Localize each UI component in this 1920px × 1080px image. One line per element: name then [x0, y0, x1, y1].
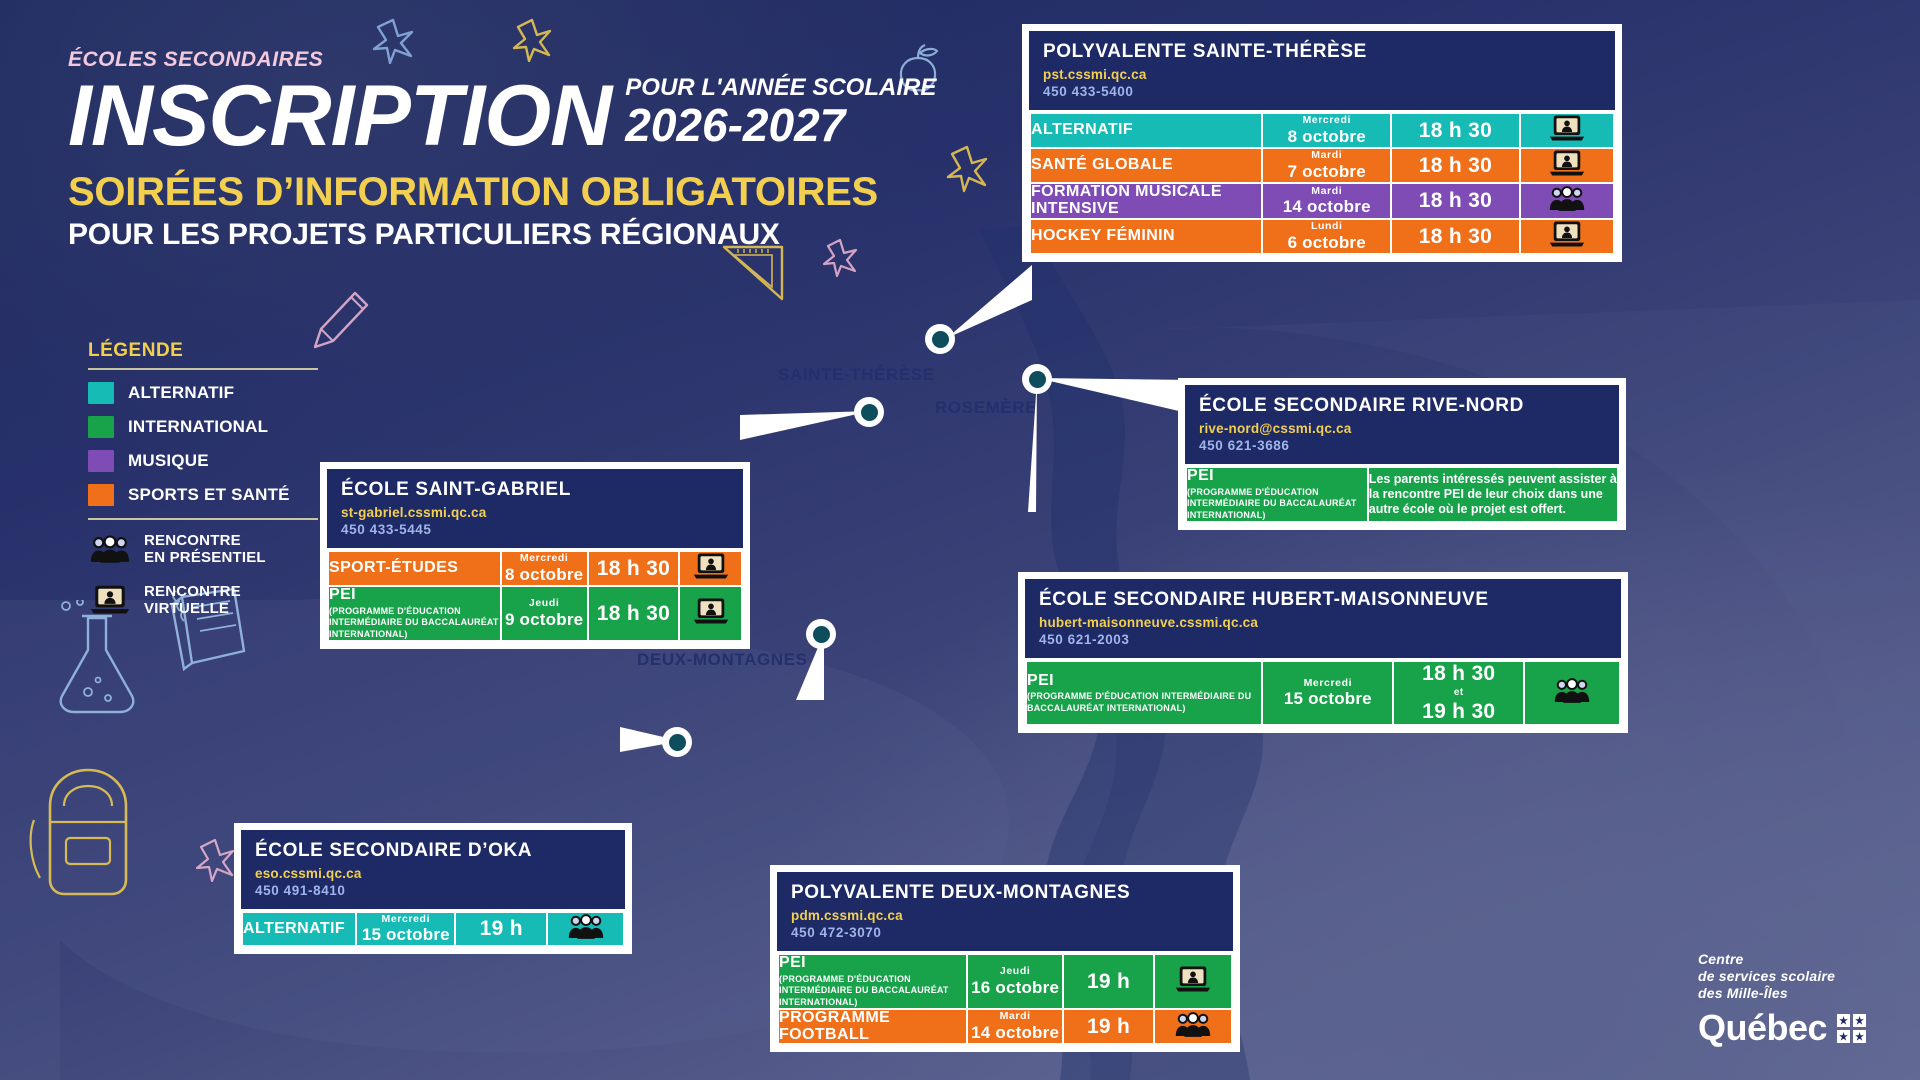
school-website[interactable]: hubert-maisonneuve.cssmi.qc.ca [1039, 615, 1607, 630]
people-group-icon [90, 534, 130, 564]
date-cell: Mercredi 8 octobre [502, 552, 587, 585]
cssmi-name: Centre de services scolaire des Mille-Îl… [1698, 951, 1866, 1002]
program-name: FORMATION MUSICALE INTENSIVE [1031, 184, 1261, 218]
school-name: ÉCOLE SECONDAIRE D’OKA [255, 840, 611, 861]
program-cell: PEI(PROGRAMME D'ÉDUCATION INTERMÉDIAIRE … [329, 587, 500, 640]
time-cell: 19 h [1064, 955, 1153, 1008]
program-cell: PEI(PROGRAMME D'ÉDUCATION INTERMÉDIAIRE … [779, 955, 966, 1008]
program-subtitle: (PROGRAMME D'ÉDUCATION INTERMÉDIAIRE DU … [1187, 487, 1367, 521]
legend-category-list: ALTERNATIF INTERNATIONAL MUSIQUE SPORTS … [88, 382, 318, 506]
program-cell: PEI(PROGRAMME D'ÉDUCATION INTERMÉDIAIRE … [1027, 662, 1261, 724]
legend-meeting-label: RENCONTRE EN PRÉSENTIEL [144, 532, 266, 567]
page-title: INSCRIPTION [68, 77, 611, 156]
laptop-person-icon [1549, 220, 1585, 248]
meeting-type-cell [1521, 149, 1613, 182]
table-row: FORMATION MUSICALE INTENSIVE Mardi 14 oc… [1031, 184, 1613, 218]
card-header: ÉCOLE SECONDAIRE RIVE-NORD rive-nord@css… [1185, 385, 1619, 464]
city-label-rosem-re: ROSEMÈRE [935, 398, 1037, 418]
program-cell: HOCKEY FÉMININ [1031, 220, 1261, 253]
date-cell: Jeudi 16 octobre [968, 955, 1062, 1008]
time-primary: 18 h 30 [1419, 154, 1492, 177]
weekday: Mercredi [357, 914, 454, 926]
card-header: ÉCOLE SECONDAIRE HUBERT-MAISONNEUVE hube… [1025, 579, 1621, 658]
people-group-icon [1554, 677, 1590, 704]
table-row: HOCKEY FÉMININ Lundi 6 octobre 18 h 30 [1031, 220, 1613, 253]
meeting-type-cell [1155, 1010, 1231, 1044]
time-separator: et [1394, 686, 1523, 700]
date: 8 octobre [502, 565, 587, 585]
date: 9 octobre [502, 610, 587, 630]
meeting-type-cell [680, 552, 741, 585]
meeting-type-cell [1521, 184, 1613, 218]
date: 14 octobre [968, 1023, 1062, 1043]
cssmi-line1: Centre [1698, 951, 1866, 968]
schedule-table: PEI(PROGRAMME D'ÉDUCATION INTERMÉDIAIRE … [777, 953, 1233, 1045]
time-cell: 18 h 30 [589, 587, 678, 640]
program-cell: FORMATION MUSICALE INTENSIVE [1031, 184, 1261, 218]
card-header: ÉCOLE SECONDAIRE D’OKA eso.cssmi.qc.ca 4… [241, 830, 625, 909]
program-name: PEI [329, 587, 500, 604]
meeting-type-cell [1521, 114, 1613, 147]
weekday: Jeudi [502, 598, 587, 610]
card-header: POLYVALENTE SAINTE-THÉRÈSE pst.cssmi.qc.… [1029, 31, 1615, 110]
time-cell: 18 h 30 [1392, 220, 1519, 253]
date-cell: Mercredi 8 octobre [1263, 114, 1390, 147]
table-row: PROGRAMME FOOTBALL Mardi 14 octobre 19 h [779, 1010, 1231, 1044]
schedule-table: PEI(PROGRAMME D'ÉDUCATION INTERMÉDIAIRE … [1185, 466, 1619, 523]
cssmi-line3: des Mille-Îles [1698, 985, 1866, 1002]
map-pin-sainte-therese[interactable] [925, 324, 955, 354]
program-name: PROGRAMME FOOTBALL [779, 1010, 966, 1044]
program-name: PEI [1187, 468, 1367, 485]
school-year-block: POUR L'ANNÉE SCOLAIRE 2026-2027 [625, 76, 936, 156]
time-primary: 18 h 30 [1422, 662, 1495, 685]
schedule-table: PEI(PROGRAMME D'ÉDUCATION INTERMÉDIAIRE … [1025, 660, 1621, 726]
date-cell: Mercredi 15 octobre [357, 913, 454, 945]
school-name: POLYVALENTE SAINTE-THÉRÈSE [1043, 41, 1601, 62]
date: 7 octobre [1263, 162, 1390, 182]
time-primary: 18 h 30 [597, 557, 670, 580]
time-primary: 18 h 30 [1419, 119, 1492, 142]
date-cell: Mardi 14 octobre [968, 1010, 1062, 1044]
cssmi-line2: de services scolaire [1698, 968, 1866, 985]
date: 15 octobre [1263, 689, 1392, 709]
time-primary: 19 h [480, 917, 523, 940]
legend-item-label: ALTERNATIF [128, 383, 234, 403]
legend: LÉGENDE ALTERNATIF INTERNATIONAL MUSIQUE… [88, 340, 318, 633]
program-name: PEI [779, 955, 966, 972]
map-pin-saint-gabriel[interactable] [854, 397, 884, 427]
card-header: POLYVALENTE DEUX-MONTAGNES pdm.cssmi.qc.… [777, 872, 1233, 951]
legend-swatch-icon [88, 450, 114, 472]
backpack-doodle [20, 760, 150, 900]
city-label-deux-montagnes: DEUX-MONTAGNES [637, 650, 808, 670]
time-cell: 18 h 30et 19 h 30 [1394, 662, 1523, 724]
school-name: ÉCOLE SECONDAIRE HUBERT-MAISONNEUVE [1039, 589, 1607, 610]
school-name: ÉCOLE SECONDAIRE RIVE-NORD [1199, 395, 1605, 416]
time-primary: 18 h 30 [597, 602, 670, 625]
title-row: INSCRIPTION POUR L'ANNÉE SCOLAIRE 2026-2… [68, 76, 1068, 156]
school-card-oka[interactable]: ÉCOLE SECONDAIRE D’OKA eso.cssmi.qc.ca 4… [234, 823, 632, 954]
date: 14 octobre [1263, 197, 1390, 217]
header-subtitle-secondary: POUR LES PROJETS PARTICULIERS RÉGIONAUX [68, 220, 1068, 250]
program-name: HOCKEY FÉMININ [1031, 228, 1261, 245]
time-secondary: 19 h 30 [1422, 700, 1495, 723]
program-subtitle: (PROGRAMME D'ÉDUCATION INTERMÉDIAIRE DU … [779, 974, 966, 1008]
weekday: Mardi [1263, 150, 1390, 162]
weekday: Mardi [968, 1011, 1062, 1023]
program-cell: PEI(PROGRAMME D'ÉDUCATION INTERMÉDIAIRE … [1187, 468, 1367, 521]
program-cell: SPORT-ÉTUDES [329, 552, 500, 585]
school-phone[interactable]: 450 472-3070 [791, 925, 1219, 940]
weekday: Mercredi [1263, 115, 1390, 127]
weekday: Jeudi [968, 966, 1062, 978]
laptop-person-icon [1549, 149, 1585, 177]
laptop-person-icon [693, 597, 729, 625]
meeting-type-cell [1521, 220, 1613, 253]
table-row: SPORT-ÉTUDES Mercredi 8 octobre 18 h 30 [329, 552, 741, 585]
schedule-table: ALTERNATIF Mercredi 8 octobre 18 h 30 SA… [1029, 112, 1615, 255]
time-primary: 18 h 30 [1419, 225, 1492, 248]
legend-item-musique: MUSIQUE [88, 450, 318, 472]
legend-meeting-list: RENCONTRE EN PRÉSENTIEL RENCONTRE VIRTUE… [88, 532, 318, 617]
legend-item-label: SPORTS ET SANTÉ [128, 485, 290, 505]
school-name: ÉCOLE SAINT-GABRIEL [341, 479, 729, 500]
program-name: SPORT-ÉTUDES [329, 560, 500, 577]
school-phone[interactable]: 450 433-5445 [341, 522, 729, 537]
date: 15 octobre [357, 925, 454, 945]
weekday: Mercredi [502, 553, 587, 565]
ruler-triangle-doodle [716, 243, 788, 305]
time-cell: 18 h 30 [1392, 114, 1519, 147]
laptop-person-icon [88, 584, 132, 616]
star-doodle-pink-2 [195, 838, 235, 882]
legend-item-international: INTERNATIONAL [88, 416, 318, 438]
table-row: ALTERNATIF Mercredi 15 octobre 19 h [243, 913, 623, 945]
program-cell: ALTERNATIF [1031, 114, 1261, 147]
table-row: SANTÉ GLOBALE Mardi 7 octobre 18 h 30 [1031, 149, 1613, 182]
legend-meeting-in-person: RENCONTRE EN PRÉSENTIEL [88, 532, 318, 567]
legend-swatch-icon [88, 416, 114, 438]
program-name: SANTÉ GLOBALE [1031, 157, 1261, 174]
school-card-pdm[interactable]: POLYVALENTE DEUX-MONTAGNES pdm.cssmi.qc.… [770, 865, 1240, 1052]
school-card-pst[interactable]: POLYVALENTE SAINTE-THÉRÈSE pst.cssmi.qc.… [1022, 24, 1622, 262]
date: 6 octobre [1263, 233, 1390, 253]
legend-divider-top [88, 368, 318, 370]
table-row: ALTERNATIF Mercredi 8 octobre 18 h 30 [1031, 114, 1613, 147]
map-pin-deux-montagnes[interactable] [806, 619, 836, 649]
legend-meeting-label: RENCONTRE VIRTUELLE [144, 583, 241, 618]
laptop-person-icon [1175, 965, 1211, 993]
date-cell: Mardi 7 octobre [1263, 149, 1390, 182]
school-card-hubert-maisonneuve[interactable]: ÉCOLE SECONDAIRE HUBERT-MAISONNEUVE hube… [1018, 572, 1628, 733]
legend-item-label: INTERNATIONAL [128, 417, 268, 437]
table-row: PEI(PROGRAMME D'ÉDUCATION INTERMÉDIAIRE … [779, 955, 1231, 1008]
program-cell: ALTERNATIF [243, 913, 355, 945]
school-phone[interactable]: 450 433-5400 [1043, 84, 1601, 99]
legend-item-alternatif: ALTERNATIF [88, 382, 318, 404]
time-cell: 19 h [1064, 1010, 1153, 1044]
quebec-flag-icon [1837, 1014, 1866, 1043]
date-cell: Lundi 6 octobre [1263, 220, 1390, 253]
date-cell: Jeudi 9 octobre [502, 587, 587, 640]
schedule-table: SPORT-ÉTUDES Mercredi 8 octobre 18 h 30 … [327, 550, 743, 642]
schedule-table: ALTERNATIF Mercredi 15 octobre 19 h [241, 911, 625, 947]
card-header: ÉCOLE SAINT-GABRIEL st-gabriel.cssmi.qc.… [327, 469, 743, 548]
legend-divider-bottom [88, 518, 318, 520]
table-row: PEI(PROGRAMME D'ÉDUCATION INTERMÉDIAIRE … [1027, 662, 1619, 724]
quebec-logo: Québec [1698, 1010, 1866, 1046]
program-subtitle: (PROGRAMME D'ÉDUCATION INTERMÉDIAIRE DU … [1027, 691, 1261, 714]
legend-meeting-virtual: RENCONTRE VIRTUELLE [88, 583, 318, 618]
quebec-wordmark: Québec [1698, 1010, 1827, 1046]
time-cell: 18 h 30 [1392, 149, 1519, 182]
school-phone[interactable]: 450 491-8410 [255, 883, 611, 898]
legend-swatch-icon [88, 484, 114, 506]
meeting-type-cell [1155, 955, 1231, 1008]
weekday: Mardi [1263, 186, 1390, 198]
school-name: POLYVALENTE DEUX-MONTAGNES [791, 882, 1219, 903]
weekday: Mercredi [1263, 678, 1392, 690]
people-group-icon [568, 913, 604, 940]
program-name: PEI [1027, 673, 1261, 690]
map-pin-rosemere[interactable] [1022, 364, 1052, 394]
school-phone[interactable]: 450 621-2003 [1039, 632, 1607, 647]
time-primary: 18 h 30 [1419, 189, 1492, 212]
date-cell: Mercredi 15 octobre [1263, 662, 1392, 724]
people-group-icon [1175, 1011, 1211, 1038]
laptop-person-icon [1549, 114, 1585, 142]
program-cell: PROGRAMME FOOTBALL [779, 1010, 966, 1044]
map-pin-oka[interactable] [662, 727, 692, 757]
school-website[interactable]: st-gabriel.cssmi.qc.ca [341, 505, 729, 520]
people-group-icon [1549, 185, 1585, 212]
date: 16 octobre [968, 978, 1062, 998]
school-card-rive-nord[interactable]: ÉCOLE SECONDAIRE RIVE-NORD rive-nord@css… [1178, 378, 1626, 530]
meeting-type-cell [548, 913, 623, 945]
time-cell: 19 h [456, 913, 546, 945]
city-label-sainte-th-r-se: SAINTE-THÉRÈSE [778, 365, 935, 385]
school-website[interactable]: rive-nord@cssmi.qc.ca [1199, 421, 1605, 436]
school-website[interactable]: pst.cssmi.qc.ca [1043, 67, 1601, 82]
weekday: Lundi [1263, 221, 1390, 233]
program-name: ALTERNATIF [1031, 122, 1261, 139]
time-cell: 18 h 30 [1392, 184, 1519, 218]
school-phone[interactable]: 450 621-3686 [1199, 438, 1605, 453]
time-primary: 19 h [1087, 970, 1130, 993]
meeting-type-cell [1525, 662, 1619, 724]
date-cell: Mardi 14 octobre [1263, 184, 1390, 218]
poster-background: ÉCOLES SECONDAIRES INSCRIPTION POUR L'AN… [0, 0, 1920, 1080]
school-card-st-gabriel[interactable]: ÉCOLE SAINT-GABRIEL st-gabriel.cssmi.qc.… [320, 462, 750, 649]
footer-logo: Centre de services scolaire des Mille-Îl… [1698, 951, 1866, 1046]
program-name: ALTERNATIF [243, 921, 355, 938]
legend-item-sports-et-sant-: SPORTS ET SANTÉ [88, 484, 318, 506]
info-note: Les parents intéressés peuvent assister … [1369, 468, 1617, 521]
people-group-icon [88, 533, 132, 565]
time-cell: 18 h 30 [589, 552, 678, 585]
school-website[interactable]: pdm.cssmi.qc.ca [791, 908, 1219, 923]
legend-title: LÉGENDE [88, 340, 318, 362]
date: 8 octobre [1263, 127, 1390, 147]
poster-header: ÉCOLES SECONDAIRES INSCRIPTION POUR L'AN… [68, 48, 1068, 250]
school-website[interactable]: eso.cssmi.qc.ca [255, 866, 611, 881]
header-subtitle: SOIRÉES D’INFORMATION OBLIGATOIRES [68, 172, 1068, 212]
laptop-person-icon [90, 584, 130, 615]
school-year-value: 2026-2027 [625, 102, 936, 148]
program-subtitle: (PROGRAMME D'ÉDUCATION INTERMÉDIAIRE DU … [329, 606, 500, 640]
legend-swatch-icon [88, 382, 114, 404]
legend-item-label: MUSIQUE [128, 451, 209, 471]
meeting-type-cell [680, 587, 741, 640]
table-row: PEI(PROGRAMME D'ÉDUCATION INTERMÉDIAIRE … [1187, 468, 1617, 521]
laptop-person-icon [693, 552, 729, 580]
program-cell: SANTÉ GLOBALE [1031, 149, 1261, 182]
school-year-label: POUR L'ANNÉE SCOLAIRE [625, 76, 936, 100]
table-row: PEI(PROGRAMME D'ÉDUCATION INTERMÉDIAIRE … [329, 587, 741, 640]
time-primary: 19 h [1087, 1015, 1130, 1038]
